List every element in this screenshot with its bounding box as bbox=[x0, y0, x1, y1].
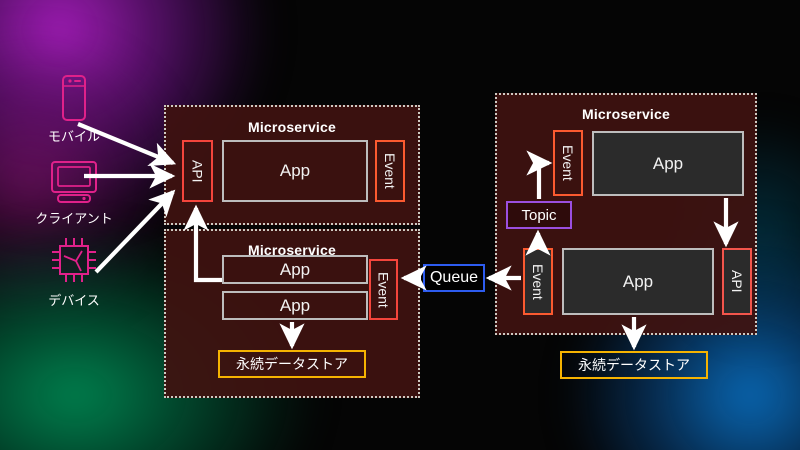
ms-left-top-app-box[interactable]: App bbox=[222, 140, 368, 202]
chip-iot-device-icon bbox=[48, 234, 100, 286]
topic-box[interactable]: Topic bbox=[506, 201, 572, 229]
ms-left-top-api-label: API bbox=[190, 160, 206, 183]
ms-right-app-bottom-box[interactable]: App bbox=[562, 248, 714, 315]
client-desktop-label: クライアント bbox=[14, 208, 134, 227]
ms-right-event-bottom-box[interactable]: Event bbox=[523, 248, 553, 315]
ms-left-bottom-app2-label: App bbox=[280, 296, 310, 316]
ms-right-event-top-label: Event bbox=[560, 145, 576, 181]
ms-right-api-box[interactable]: API bbox=[722, 248, 752, 315]
ms-right-app-top-label: App bbox=[653, 154, 683, 174]
ms-right-app-bottom-label: App bbox=[623, 272, 653, 292]
ms-left-bottom-app1-box[interactable]: App bbox=[222, 255, 368, 284]
topic-label: Topic bbox=[521, 207, 556, 224]
client-desktop[interactable]: クライアント bbox=[14, 160, 134, 227]
client-mobile[interactable]: モバイル bbox=[26, 74, 122, 145]
datastore-left-label: 永続データストア bbox=[236, 354, 348, 374]
client-device-label: デバイス bbox=[24, 290, 124, 309]
queue-label: Queue bbox=[430, 269, 478, 287]
ms-right-app-top-box[interactable]: App bbox=[592, 131, 744, 196]
diagram-canvas: モバイル クライアント デバイス M bbox=[0, 0, 800, 450]
ms-right-event-bottom-label: Event bbox=[530, 264, 546, 300]
datastore-right-box[interactable]: 永続データストア bbox=[560, 351, 708, 379]
ms-right-api-label: API bbox=[729, 270, 745, 293]
datastore-right-label: 永続データストア bbox=[578, 355, 690, 375]
ms-left-bottom-event-box[interactable]: Event bbox=[369, 259, 398, 320]
ms-left-bottom-event-label: Event bbox=[376, 272, 392, 308]
queue-box[interactable]: Queue bbox=[423, 264, 485, 292]
client-mobile-label: モバイル bbox=[26, 126, 122, 145]
ms-left-top-event-label: Event bbox=[382, 153, 398, 189]
client-device[interactable]: デバイス bbox=[24, 234, 124, 309]
ms-left-bottom-app2-box[interactable]: App bbox=[222, 291, 368, 320]
desktop-computer-icon bbox=[45, 160, 103, 204]
microservice-left-top-title: Microservice bbox=[166, 119, 418, 135]
ms-left-bottom-app1-label: App bbox=[280, 260, 310, 280]
ms-right-event-top-box[interactable]: Event bbox=[553, 130, 583, 196]
ms-left-top-event-box[interactable]: Event bbox=[375, 140, 405, 202]
datastore-left-box[interactable]: 永続データストア bbox=[218, 350, 366, 378]
ms-left-top-api-box[interactable]: API bbox=[182, 140, 213, 202]
ms-left-top-app-label: App bbox=[280, 161, 310, 181]
microservice-right-title: Microservice bbox=[497, 106, 755, 122]
smartphone-icon bbox=[59, 74, 89, 122]
